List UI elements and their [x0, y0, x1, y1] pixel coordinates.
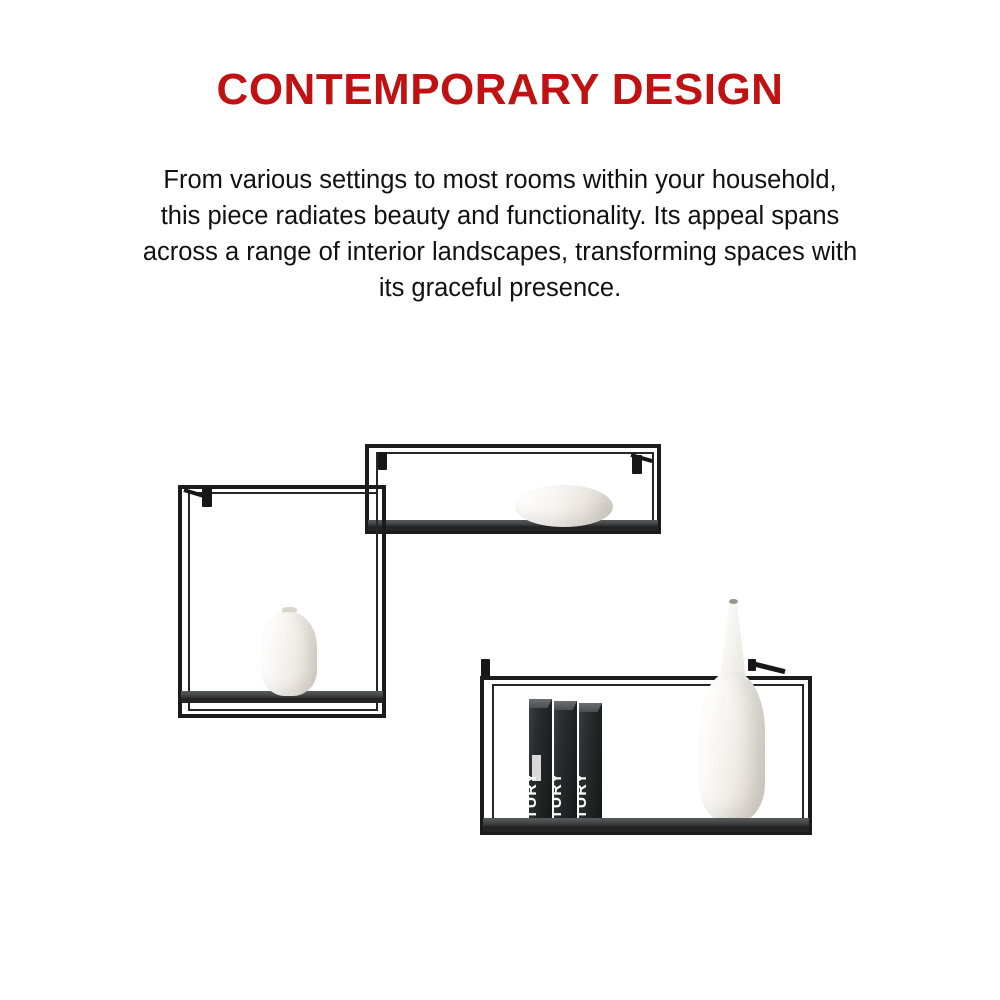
book-title: CENTURY: [529, 772, 541, 820]
product-photo: CENTURY CENTURY CENTURY: [0, 0, 1000, 1000]
book-title: CENTURY: [554, 772, 566, 820]
ceramic-oval-bowl: [515, 485, 613, 527]
book-top-edge: [529, 699, 552, 708]
book-top-edge: [554, 701, 577, 710]
shelf-board-top-face: [483, 818, 809, 826]
shelf-wide-top-back-plane: [376, 452, 654, 526]
mounting-bracket-icon: [481, 659, 490, 677]
shelf-wide-bottom-board: [483, 818, 809, 832]
book-title: CENTURY: [579, 772, 591, 820]
ceramic-squat-vase: [261, 612, 317, 696]
mounting-bracket-arm-icon: [751, 661, 785, 674]
ceramic-bottle-vase: [699, 672, 765, 822]
shelf-board-top-face: [368, 520, 658, 526]
promo-banner: CONTEMPORARY DESIGN From various setting…: [0, 0, 1000, 1000]
book-spine: CENTURY: [554, 701, 577, 820]
book-top-edge: [579, 703, 602, 712]
mounting-bracket-icon: [748, 659, 756, 671]
mounting-bracket-icon: [378, 452, 387, 470]
book-spine: CENTURY: [579, 703, 602, 820]
book-spine: CENTURY: [529, 699, 552, 820]
shelf-wide-top-board: [368, 520, 658, 531]
ceramic-bottle-lip: [729, 599, 738, 604]
